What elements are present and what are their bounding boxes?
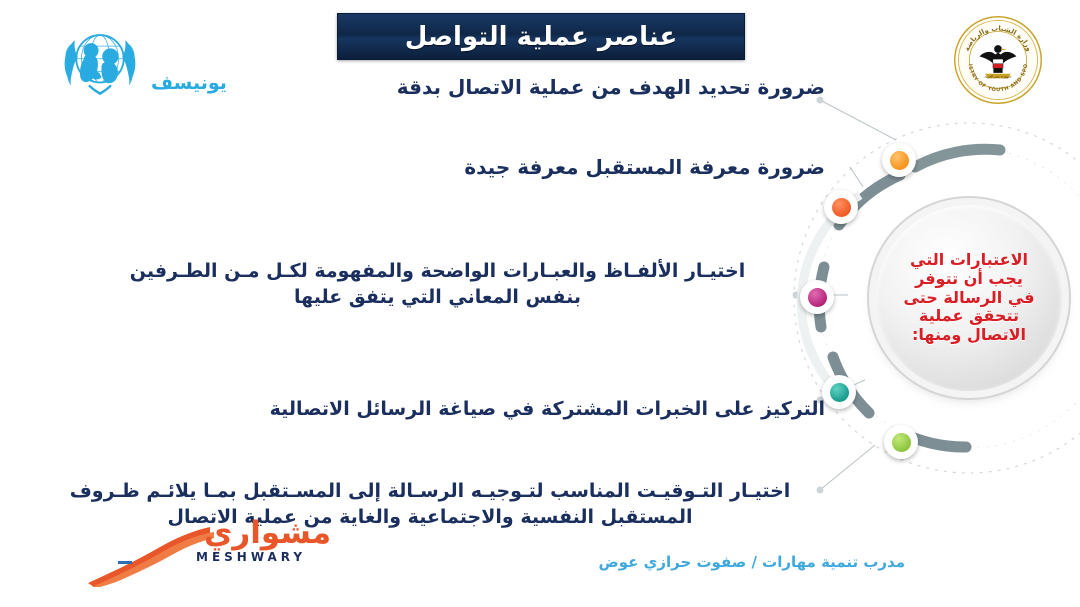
bullet-item-1: ضرورة تحديد الهدف من عملية الاتصال بدقة bbox=[255, 74, 825, 102]
page-title: عناصر عملية التواصل bbox=[405, 24, 678, 50]
diagram-node-green-icon[interactable] bbox=[884, 425, 918, 459]
diagram-node-orange-light-icon[interactable] bbox=[882, 143, 916, 177]
diagram-center-text: الاعتبارات التي يجب أن تتوفر في الرسالة … bbox=[898, 251, 1041, 345]
footer-credit: مدرب تنمية مهارات / صفوت حرازي عوض bbox=[599, 553, 905, 571]
meshwary-arabic-label: مشواري bbox=[204, 515, 331, 551]
diagram-node-magenta-icon[interactable] bbox=[800, 280, 834, 314]
diagram-node-teal-icon[interactable] bbox=[822, 375, 856, 409]
unicef-logo: يونيسف bbox=[55, 18, 255, 108]
unicef-logo-label: يونيسف bbox=[151, 72, 227, 94]
svg-text:جمهورية مصر العربية: جمهورية مصر العربية bbox=[984, 75, 1011, 79]
bullet-item-2: ضرورة معرفة المستقبل معرفة جيدة bbox=[255, 154, 825, 182]
ministry-of-youth-and-sports-logo: وزارة الشباب والرياضة MINISTRY OF YOUTH … bbox=[952, 14, 1044, 106]
unicef-mother-child-globe-icon bbox=[55, 18, 145, 98]
meshwary-logo: مشواري MESHWARY bbox=[84, 517, 289, 587]
diagram-center-hub: الاعتبارات التي يجب أن تتوفر في الرسالة … bbox=[876, 205, 1062, 391]
egypt-eagle-seal-icon: وزارة الشباب والرياضة MINISTRY OF YOUTH … bbox=[952, 14, 1044, 106]
bullet-item-3: اختيـار الألفـاظ والعبـارات الواضحة والم… bbox=[50, 258, 825, 310]
slide-canvas: يونيسف عناصر عملية التواصل وزارة الشباب … bbox=[0, 0, 1080, 607]
bullet-item-4: التركيز على الخبرات المشتركة في صياغة ال… bbox=[125, 396, 825, 422]
diagram-node-orange-dark-icon[interactable] bbox=[824, 190, 858, 224]
meshwary-latin-label: MESHWARY bbox=[196, 550, 306, 564]
slide-title-banner: عناصر عملية التواصل bbox=[337, 13, 745, 60]
